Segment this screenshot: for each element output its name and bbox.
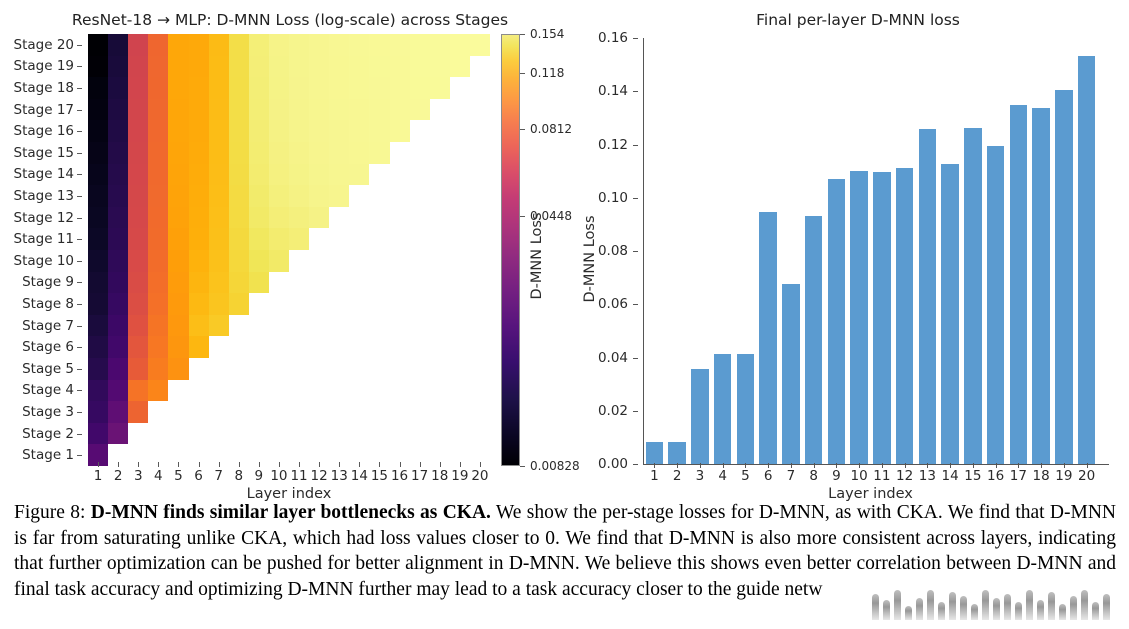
heatmap-cell (148, 99, 168, 121)
heatmap-cell (249, 336, 269, 358)
heatmap-cell (329, 228, 349, 250)
heatmap-cell (470, 380, 490, 402)
bar-slot (871, 38, 894, 464)
heatmap-cell (329, 272, 349, 294)
barchart-y-tick-label: 0.14 (598, 83, 628, 99)
heatmap-cell (430, 56, 450, 78)
heatmap-cell (470, 272, 490, 294)
heatmap-title: ResNet-18 → MLP: D-MNN Loss (log-scale) … (40, 11, 540, 29)
barchart-x-tick-label: 12 (896, 468, 913, 484)
barchart-y-axis-label: D-MNN Loss (582, 215, 598, 302)
heatmap-cell (269, 56, 289, 78)
heatmap-cell (209, 185, 229, 207)
barchart-y-tick (633, 251, 638, 252)
bar-slot (643, 38, 666, 464)
heatmap-cell (128, 185, 148, 207)
heatmap-cell (249, 99, 269, 121)
heatmap-cell (369, 358, 389, 380)
bar[interactable] (850, 171, 868, 464)
heatmap-cell (329, 77, 349, 99)
heatmap-x-tick-label: 1 (94, 468, 103, 484)
heatmap-plot-area (88, 34, 490, 466)
bar[interactable] (1055, 90, 1073, 464)
heatmap-cell (410, 142, 430, 164)
barchart-x-tick (677, 463, 678, 468)
heatmap-cell (249, 56, 269, 78)
figure-page: ResNet-18 → MLP: D-MNN Loss (log-scale) … (0, 0, 1129, 629)
heatmap-y-tick-label: Stage 11 (14, 231, 74, 247)
bar-slot (734, 38, 757, 464)
bar[interactable] (805, 216, 823, 464)
heatmap-y-tick (77, 412, 82, 413)
colorbar-tick (520, 216, 525, 217)
heatmap-cell (309, 99, 329, 121)
heatmap-cell (309, 142, 329, 164)
heatmap-cell (189, 228, 209, 250)
heatmap-y-tick-label: Stage 7 (22, 318, 74, 334)
barchart-x-tick (791, 463, 792, 468)
heatmap-cell (329, 380, 349, 402)
heatmap-y-tick (77, 110, 82, 111)
heatmap-x-tick-label: 5 (174, 468, 183, 484)
heatmap-cell (309, 293, 329, 315)
heatmap-cell (209, 380, 229, 402)
barchart-y-tick (633, 198, 638, 199)
heatmap-cell (128, 293, 148, 315)
heatmap-cell (269, 380, 289, 402)
heatmap-cell (128, 401, 148, 423)
barchart-x-tick-label: 8 (809, 468, 818, 484)
heatmap-cell (390, 293, 410, 315)
heatmap-cell (329, 207, 349, 229)
heatmap-cell (148, 250, 168, 272)
heatmap-cell (249, 272, 269, 294)
heatmap-cell (430, 164, 450, 186)
heatmap-cell (249, 401, 269, 423)
barchart-x-tick (1018, 463, 1019, 468)
heatmap-cell (289, 164, 309, 186)
barchart-x-tick-label: 2 (673, 468, 682, 484)
barchart-plot-area (643, 38, 1098, 464)
barchart-y-tick-label: 0.04 (598, 350, 628, 366)
heatmap-cell (189, 293, 209, 315)
heatmap-cell (329, 423, 349, 445)
heatmap-cell (229, 207, 249, 229)
barchart-x-tick-label: 11 (873, 468, 890, 484)
heatmap-cell (349, 185, 369, 207)
heatmap-cell (349, 380, 369, 402)
barchart-y-tick-label: 0.00 (598, 456, 628, 472)
heatmap-cell (349, 142, 369, 164)
heatmap-y-tick (77, 455, 82, 456)
heatmap-y-tick-label: Stage 14 (14, 166, 74, 182)
barchart-x-tick (768, 463, 769, 468)
heatmap-cell (148, 34, 168, 56)
heatmap-cell (470, 120, 490, 142)
heatmap-cell (470, 228, 490, 250)
watermark-stroke (971, 604, 978, 620)
heatmap-cell (289, 293, 309, 315)
heatmap-cell (390, 250, 410, 272)
bar[interactable] (964, 128, 982, 464)
barchart-x-tick (814, 463, 815, 468)
heatmap-x-tick (299, 462, 300, 467)
heatmap-cell (430, 228, 450, 250)
heatmap-cell (390, 56, 410, 78)
barchart-x-tick (723, 463, 724, 468)
heatmap-cell (470, 336, 490, 358)
heatmap-cell (249, 207, 269, 229)
heatmap-cell (168, 293, 188, 315)
caption-figure-number: Figure 8: (14, 502, 91, 523)
heatmap-x-tick (460, 462, 461, 467)
heatmap-cell (108, 358, 128, 380)
heatmap-cell (128, 228, 148, 250)
colorbar-tick (520, 466, 525, 467)
bar[interactable] (668, 442, 686, 464)
heatmap-x-tick-label: 6 (194, 468, 203, 484)
heatmap-cell (410, 56, 430, 78)
heatmap-x-tick-label: 8 (234, 468, 243, 484)
heatmap-cell (128, 272, 148, 294)
heatmap-x-tick-label: 12 (311, 468, 328, 484)
heatmap-cell (309, 401, 329, 423)
barchart-y-tick (633, 38, 638, 39)
heatmap-cell (88, 358, 108, 380)
heatmap-cell (450, 185, 470, 207)
heatmap-cell (229, 315, 249, 337)
bar-slot (893, 38, 916, 464)
heatmap-cell (249, 34, 269, 56)
heatmap-panel: ResNet-18 → MLP: D-MNN Loss (log-scale) … (0, 0, 568, 492)
heatmap-cell (410, 358, 430, 380)
heatmap-cell (249, 185, 269, 207)
barchart-y-tick-label: 0.08 (598, 243, 628, 259)
bar[interactable] (987, 146, 1005, 464)
heatmap-cell (450, 120, 470, 142)
heatmap-cell (309, 272, 329, 294)
heatmap-cell (289, 250, 309, 272)
heatmap-cell (450, 99, 470, 121)
heatmap-cell (88, 380, 108, 402)
barchart-x-tick (700, 463, 701, 468)
heatmap-x-tick-label: 4 (154, 468, 163, 484)
heatmap-cell (229, 423, 249, 445)
heatmap-cell (168, 120, 188, 142)
heatmap-cell (329, 315, 349, 337)
heatmap-cell (349, 99, 369, 121)
heatmap-cell (470, 423, 490, 445)
heatmap-cell (88, 423, 108, 445)
heatmap-cell (450, 401, 470, 423)
heatmap-x-tick (259, 462, 260, 467)
heatmap-cell (349, 423, 369, 445)
heatmap-cell (269, 423, 289, 445)
heatmap-cell (209, 293, 229, 315)
bar[interactable] (896, 168, 914, 464)
heatmap-cell (269, 272, 289, 294)
heatmap-y-tick-label: Stage 2 (22, 426, 74, 442)
heatmap-x-tick-label: 10 (270, 468, 287, 484)
heatmap-cell (329, 56, 349, 78)
heatmap-cell (450, 207, 470, 229)
heatmap-cell (309, 336, 329, 358)
heatmap-cell (229, 34, 249, 56)
barchart-x-tick (859, 463, 860, 468)
heatmap-y-tick-label: Stage 12 (14, 210, 74, 226)
heatmap-y-tick (77, 390, 82, 391)
heatmap-cell (168, 185, 188, 207)
heatmap-cell (269, 164, 289, 186)
barchart-x-tick-label: 19 (1055, 468, 1072, 484)
heatmap-cell (168, 77, 188, 99)
heatmap-x-tick-label: 13 (331, 468, 348, 484)
heatmap-cell (108, 99, 128, 121)
bar[interactable] (919, 129, 937, 464)
heatmap-cell (269, 336, 289, 358)
heatmap-y-tick (77, 304, 82, 305)
heatmap-x-tick-label: 18 (431, 468, 448, 484)
bar-slot (1075, 38, 1098, 464)
heatmap-cell (128, 380, 148, 402)
heatmap-cell (128, 56, 148, 78)
bar[interactable] (941, 164, 959, 464)
heatmap-cell (189, 250, 209, 272)
heatmap-cell (390, 228, 410, 250)
heatmap-cell (369, 380, 389, 402)
heatmap-cell (390, 315, 410, 337)
bar-slot (780, 38, 803, 464)
barchart-y-axis: 0.000.020.040.060.080.100.120.140.16 (568, 38, 638, 464)
watermark-stroke (1015, 602, 1022, 620)
bar[interactable] (828, 179, 846, 464)
heatmap-cell (88, 228, 108, 250)
heatmap-cell (450, 250, 470, 272)
heatmap-cell (390, 77, 410, 99)
heatmap-cell (108, 56, 128, 78)
heatmap-cell (450, 272, 470, 294)
barchart-x-tick (973, 463, 974, 468)
heatmap-cell (148, 423, 168, 445)
heatmap-cell (168, 56, 188, 78)
bar-slot (711, 38, 734, 464)
heatmap-y-tick-label: Stage 17 (14, 102, 74, 118)
heatmap-cell (209, 423, 229, 445)
heatmap-cell (88, 250, 108, 272)
heatmap-cell (269, 142, 289, 164)
bar[interactable] (737, 354, 755, 464)
colorbar-tick (520, 73, 525, 74)
heatmap-cell (369, 207, 389, 229)
heatmap-cell (108, 380, 128, 402)
heatmap-cell (410, 120, 430, 142)
heatmap-x-tick (98, 462, 99, 467)
heatmap-cell (209, 272, 229, 294)
heatmap-cell (309, 380, 329, 402)
heatmap-cell (309, 164, 329, 186)
heatmap-cell (229, 56, 249, 78)
bar-slot (757, 38, 780, 464)
heatmap-cell (148, 336, 168, 358)
bar[interactable] (1032, 108, 1050, 464)
heatmap-cell (309, 250, 329, 272)
barchart-x-tick (927, 463, 928, 468)
heatmap-cell (329, 358, 349, 380)
heatmap-x-tick (339, 462, 340, 467)
heatmap-cell (410, 401, 430, 423)
heatmap-cell (88, 56, 108, 78)
heatmap-cell (390, 423, 410, 445)
heatmap-cell (470, 99, 490, 121)
heatmap-y-tick (77, 261, 82, 262)
heatmap-cell (369, 185, 389, 207)
heatmap-x-tick-label: 17 (411, 468, 428, 484)
bar[interactable] (691, 369, 709, 464)
heatmap-x-tick (480, 462, 481, 467)
barchart-x-tick (950, 463, 951, 468)
heatmap-cell (128, 142, 148, 164)
bar[interactable] (759, 212, 777, 464)
heatmap-cell (148, 77, 168, 99)
heatmap-cell (309, 77, 329, 99)
heatmap-cell (108, 77, 128, 99)
heatmap-cell (289, 142, 309, 164)
heatmap-x-tick-label: 20 (471, 468, 488, 484)
heatmap-cell (470, 207, 490, 229)
heatmap-y-tick-label: Stage 1 (22, 447, 74, 463)
barchart-x-tick (1087, 463, 1088, 468)
heatmap-cell (450, 228, 470, 250)
heatmap-cell (269, 401, 289, 423)
heatmap-cell (390, 401, 410, 423)
heatmap-x-tick (219, 462, 220, 467)
heatmap-cell (369, 56, 389, 78)
colorbar-gradient (501, 34, 520, 466)
barchart-y-tick-label: 0.02 (598, 403, 628, 419)
bar[interactable] (873, 172, 891, 464)
heatmap-y-tick-label: Stage 18 (14, 80, 74, 96)
heatmap-cell (289, 77, 309, 99)
barchart-x-tick-label: 9 (832, 468, 841, 484)
heatmap-cell (450, 293, 470, 315)
heatmap-cell (289, 228, 309, 250)
heatmap-cell (168, 228, 188, 250)
bar[interactable] (1010, 105, 1028, 464)
heatmap-cell (369, 142, 389, 164)
heatmap-x-tick (359, 462, 360, 467)
heatmap-cell (309, 315, 329, 337)
heatmap-cell (209, 164, 229, 186)
heatmap-cell (269, 99, 289, 121)
watermark-stroke (1092, 602, 1099, 620)
heatmap-cell (148, 185, 168, 207)
barchart-x-axis: 1234567891011121314151617181920 (643, 468, 1098, 488)
heatmap-cell (309, 207, 329, 229)
barchart-x-tick-label: 13 (919, 468, 936, 484)
watermark-stroke (1037, 600, 1044, 620)
heatmap-cell (108, 272, 128, 294)
barchart-x-tick (905, 463, 906, 468)
bar-slot (689, 38, 712, 464)
heatmap-cells (88, 34, 490, 466)
heatmap-y-tick-label: Stage 20 (14, 37, 74, 53)
heatmap-cell (369, 336, 389, 358)
heatmap-cell (289, 272, 309, 294)
heatmap-cell (450, 358, 470, 380)
heatmap-cell (229, 272, 249, 294)
heatmap-cell (148, 207, 168, 229)
heatmap-cell (369, 315, 389, 337)
heatmap-cell (209, 315, 229, 337)
heatmap-cell (430, 120, 450, 142)
bar[interactable] (714, 354, 732, 464)
heatmap-cell (470, 315, 490, 337)
heatmap-cell (369, 401, 389, 423)
heatmap-cell (108, 34, 128, 56)
heatmap-cell (269, 185, 289, 207)
heatmap-cell (88, 315, 108, 337)
heatmap-cell (269, 207, 289, 229)
heatmap-x-tick (440, 462, 441, 467)
heatmap-cell (390, 120, 410, 142)
heatmap-cell (369, 120, 389, 142)
heatmap-x-tick-label: 16 (391, 468, 408, 484)
barchart-x-tick-label: 3 (696, 468, 705, 484)
heatmap-cell (289, 99, 309, 121)
heatmap-y-tick-label: Stage 10 (14, 253, 74, 269)
heatmap-cell (470, 77, 490, 99)
bar[interactable] (782, 284, 800, 464)
heatmap-cell (108, 336, 128, 358)
heatmap-y-tick (77, 153, 82, 154)
heatmap-x-tick-label: 9 (255, 468, 264, 484)
bar-slot (848, 38, 871, 464)
heatmap-cell (128, 34, 148, 56)
heatmap-cell (349, 293, 369, 315)
heatmap-cell (209, 77, 229, 99)
barchart-x-tick-label: 4 (718, 468, 727, 484)
heatmap-cell (148, 142, 168, 164)
bar-slot (1053, 38, 1076, 464)
barchart-y-tick-label: 0.12 (598, 137, 628, 153)
watermark-stroke (1059, 604, 1066, 620)
colorbar-tick (520, 34, 525, 35)
heatmap-cell (168, 34, 188, 56)
heatmap-cell (168, 164, 188, 186)
heatmap-cell (390, 185, 410, 207)
colorbar-tick (520, 129, 525, 130)
heatmap-cell (189, 423, 209, 445)
heatmap-cell (209, 207, 229, 229)
heatmap-cell (329, 142, 349, 164)
watermark-stroke (883, 600, 890, 620)
heatmap-cell (128, 315, 148, 337)
heatmap-cell (309, 34, 329, 56)
heatmap-cell (168, 250, 188, 272)
heatmap-cell (88, 293, 108, 315)
bar[interactable] (1078, 56, 1096, 464)
heatmap-cell (148, 164, 168, 186)
heatmap-cell (128, 120, 148, 142)
heatmap-cell (410, 423, 430, 445)
bar[interactable] (646, 442, 664, 464)
heatmap-cell (450, 77, 470, 99)
barchart-x-tick-label: 10 (851, 468, 868, 484)
heatmap-x-axis: 1234567891011121314151617181920 (88, 468, 490, 488)
heatmap-cell (430, 99, 450, 121)
heatmap-cell (209, 336, 229, 358)
heatmap-y-tick-label: Stage 19 (14, 58, 74, 74)
